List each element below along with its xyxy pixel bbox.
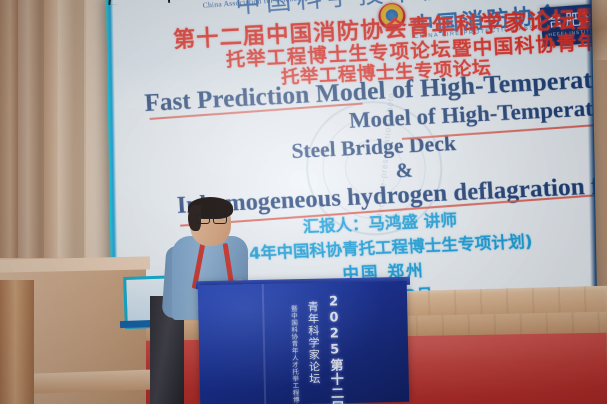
podium-highlight (198, 281, 409, 404)
speaker-podium: 2025第十二届中国 青年科学家论坛 暨中国科协青年人才托举工程博士 (198, 281, 409, 404)
podium-text-line-1: 2025第十二届中国 (324, 294, 346, 404)
eyeglasses-icon (196, 214, 227, 222)
foreground-column (0, 280, 34, 404)
eyeglasses-bridge (208, 218, 215, 219)
conference-photo: 中国科学技术协会 China Association for Science a… (0, 0, 607, 404)
podium-text-line-2: 青年科学家论坛 (304, 301, 322, 385)
title-line-4: & (395, 159, 414, 183)
